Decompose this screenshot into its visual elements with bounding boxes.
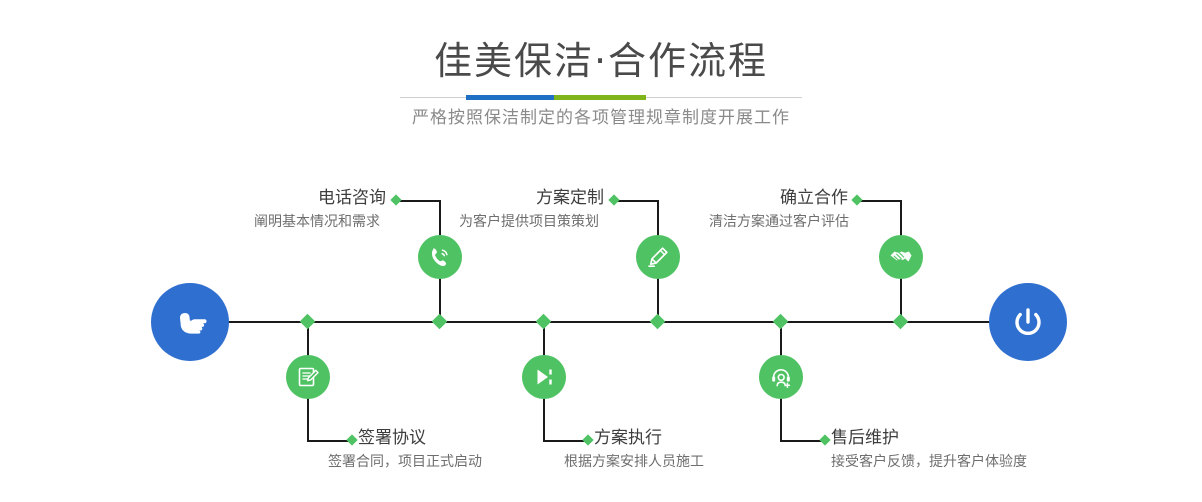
pointing-hand-icon <box>170 302 210 342</box>
step-icon-badge[interactable] <box>759 355 803 399</box>
label-diamond <box>582 434 593 445</box>
step-description: 接受客户反馈，提升客户体验度 <box>831 452 1027 472</box>
process-flow-infographic: 佳美保洁·合作流程 严格按照保洁制定的各项管理规章制度开展工作 <box>0 0 1202 502</box>
axis-diamond <box>300 314 316 330</box>
play-skip-icon <box>531 364 557 390</box>
step-description: 清洁方案通过客户评估 <box>709 212 849 232</box>
step-icon-badge[interactable] <box>522 355 566 399</box>
headset-support-icon <box>768 364 794 390</box>
connector-horizontal <box>396 200 441 202</box>
power-icon <box>1008 302 1048 342</box>
step-icon-badge[interactable] <box>286 355 330 399</box>
connector-horizontal <box>614 200 659 202</box>
step-title: 方案定制 <box>536 187 604 209</box>
step-title: 方案执行 <box>594 427 662 449</box>
divider-segment-green <box>554 95 646 100</box>
divider-segment-blue <box>466 95 554 100</box>
axis-diamond <box>536 314 552 330</box>
title-divider <box>400 95 802 101</box>
axis-diamond <box>893 314 909 330</box>
connector-horizontal <box>857 200 902 202</box>
timeline-diagram: 电话咨询 阐明基本情况和需求 方案定制 为客户提供项目策策划 <box>0 150 1202 502</box>
step-title: 电话咨询 <box>318 187 386 209</box>
label-diamond <box>608 194 619 205</box>
page-title: 佳美保洁·合作流程 <box>0 38 1202 84</box>
step-title: 签署协议 <box>358 427 426 449</box>
label-diamond <box>346 434 357 445</box>
timeline-start-endpoint[interactable] <box>151 283 229 361</box>
phone-ring-icon <box>427 244 453 270</box>
step-description: 根据方案安排人员施工 <box>564 452 704 472</box>
step-icon-badge[interactable] <box>879 235 923 279</box>
document-sign-icon <box>295 364 321 390</box>
timeline-end-endpoint[interactable] <box>989 283 1067 361</box>
connector-horizontal <box>780 440 825 442</box>
axis-diamond <box>773 314 789 330</box>
step-description: 阐明基本情况和需求 <box>254 212 380 232</box>
step-title: 确立合作 <box>780 187 848 209</box>
step-description: 签署合同，项目正式启动 <box>328 452 482 472</box>
step-description: 为客户提供项目策策划 <box>459 212 599 232</box>
label-diamond <box>819 434 830 445</box>
timeline-axis <box>190 321 1040 323</box>
connector-horizontal <box>543 440 588 442</box>
page-subtitle: 严格按照保洁制定的各项管理规章制度开展工作 <box>0 105 1202 131</box>
axis-diamond <box>650 314 666 330</box>
step-icon-badge[interactable] <box>418 235 462 279</box>
step-icon-badge[interactable] <box>636 235 680 279</box>
label-diamond <box>390 194 401 205</box>
connector-horizontal <box>307 440 352 442</box>
pencil-edit-icon <box>645 244 671 270</box>
label-diamond <box>851 194 862 205</box>
step-title: 售后维护 <box>831 427 899 449</box>
axis-diamond <box>432 314 448 330</box>
handshake-icon <box>888 244 914 270</box>
